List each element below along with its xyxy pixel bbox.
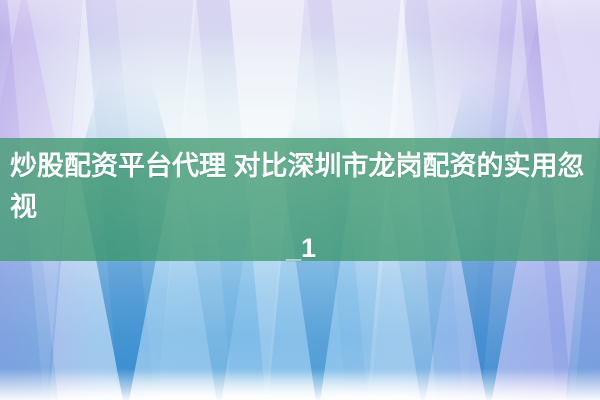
banner-image: 炒股配资平台代理 对比深圳市龙岗配资的实用忽视 _1 ...: [0, 0, 600, 400]
banner-title: 炒股配资平台代理 对比深圳市龙岗配资的实用忽视 _1: [0, 138, 600, 269]
bottom-watermark: ...: [288, 380, 312, 390]
banner-title-line-2: _1: [10, 228, 592, 269]
banner-title-line-1: 炒股配资平台代理 对比深圳市龙岗配资的实用忽视: [10, 146, 592, 228]
title-band: 炒股配资平台代理 对比深圳市龙岗配资的实用忽视 _1: [0, 138, 600, 261]
